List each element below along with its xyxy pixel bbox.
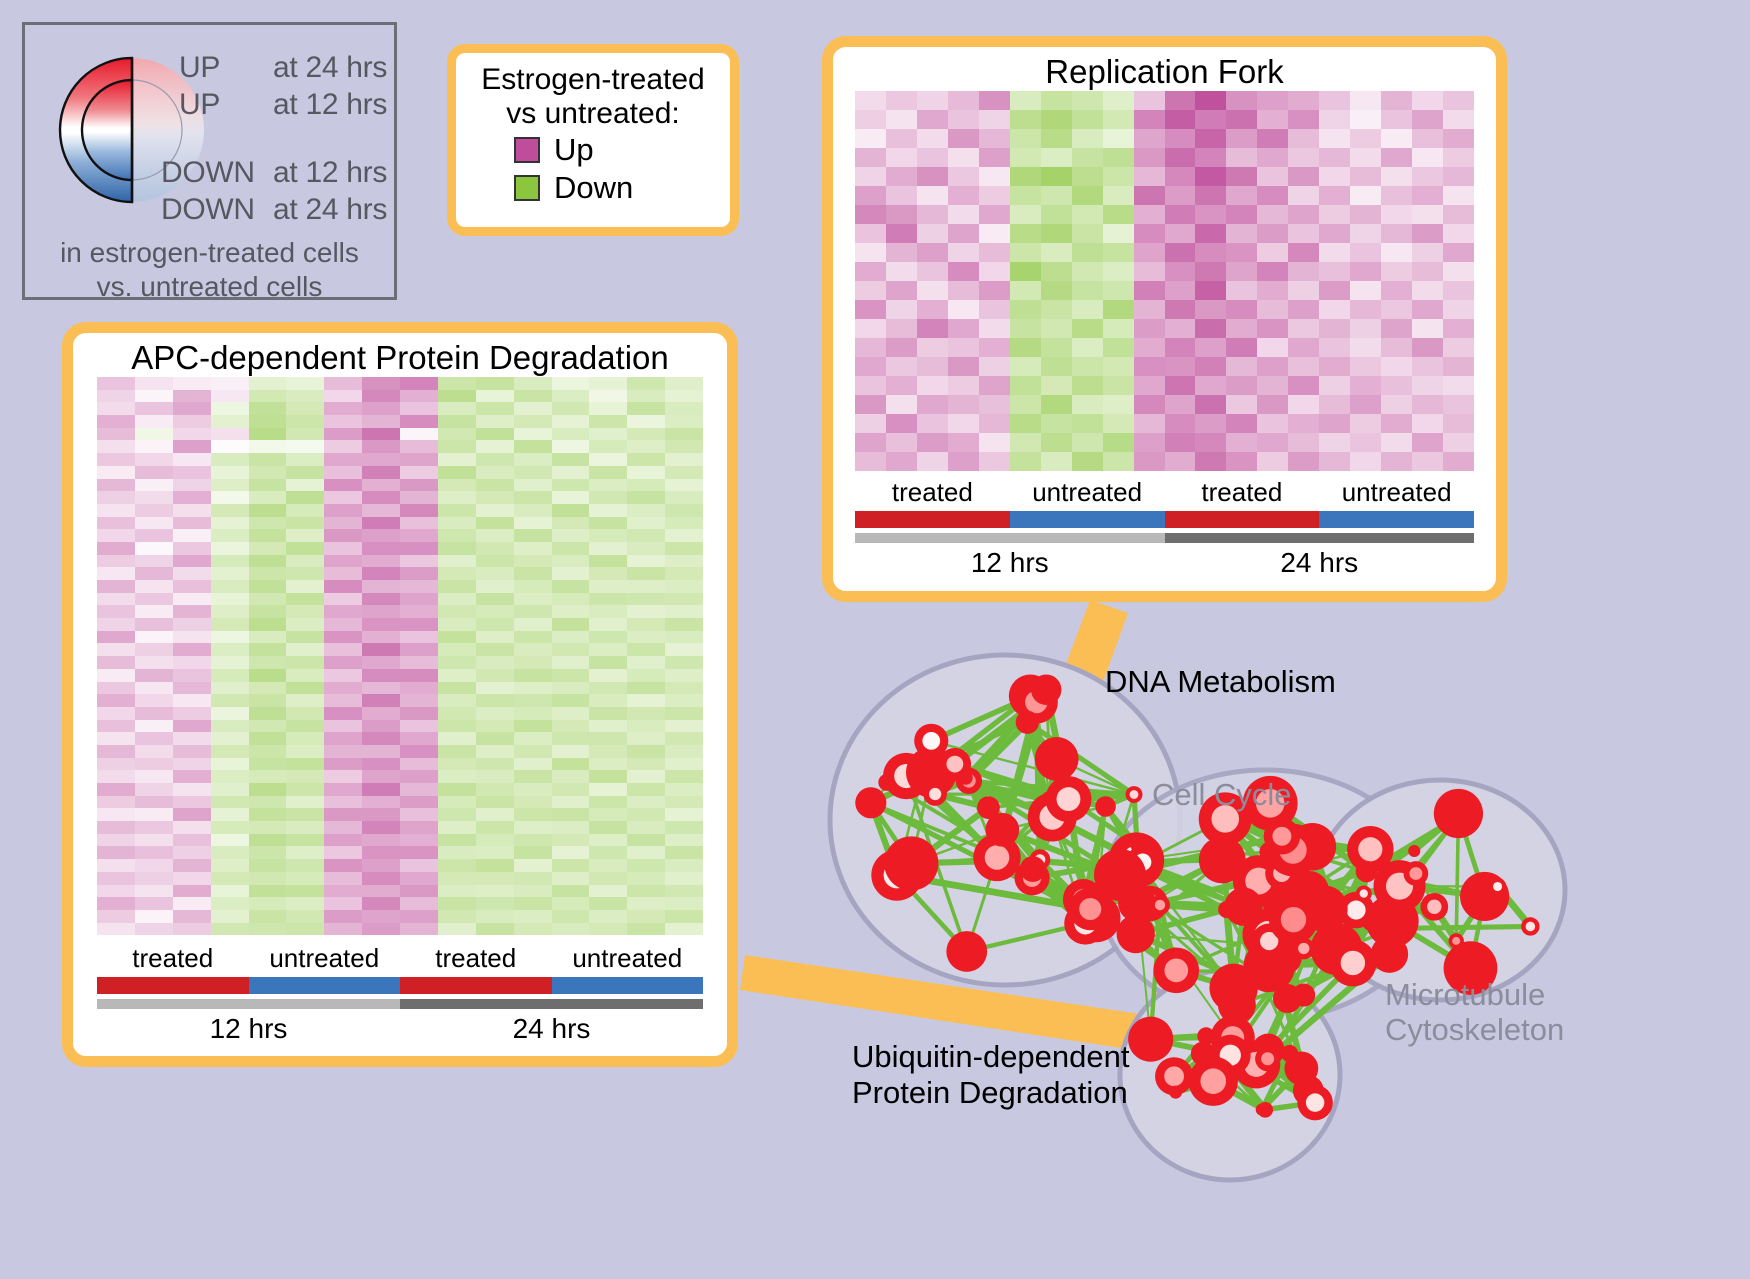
label-cell-cycle: Cell Cycle bbox=[1152, 778, 1292, 813]
label-microtubule-line1: Microtubule bbox=[1385, 978, 1545, 1013]
label-ubiquitin-line1: Ubiquitin-dependent bbox=[852, 1040, 1130, 1075]
label-ubiquitin-line2: Protein Degradation bbox=[852, 1076, 1128, 1111]
label-microtubule-line2: Cytoskeleton bbox=[1385, 1013, 1564, 1048]
label-dna-metabolism: DNA Metabolism bbox=[1105, 665, 1336, 700]
